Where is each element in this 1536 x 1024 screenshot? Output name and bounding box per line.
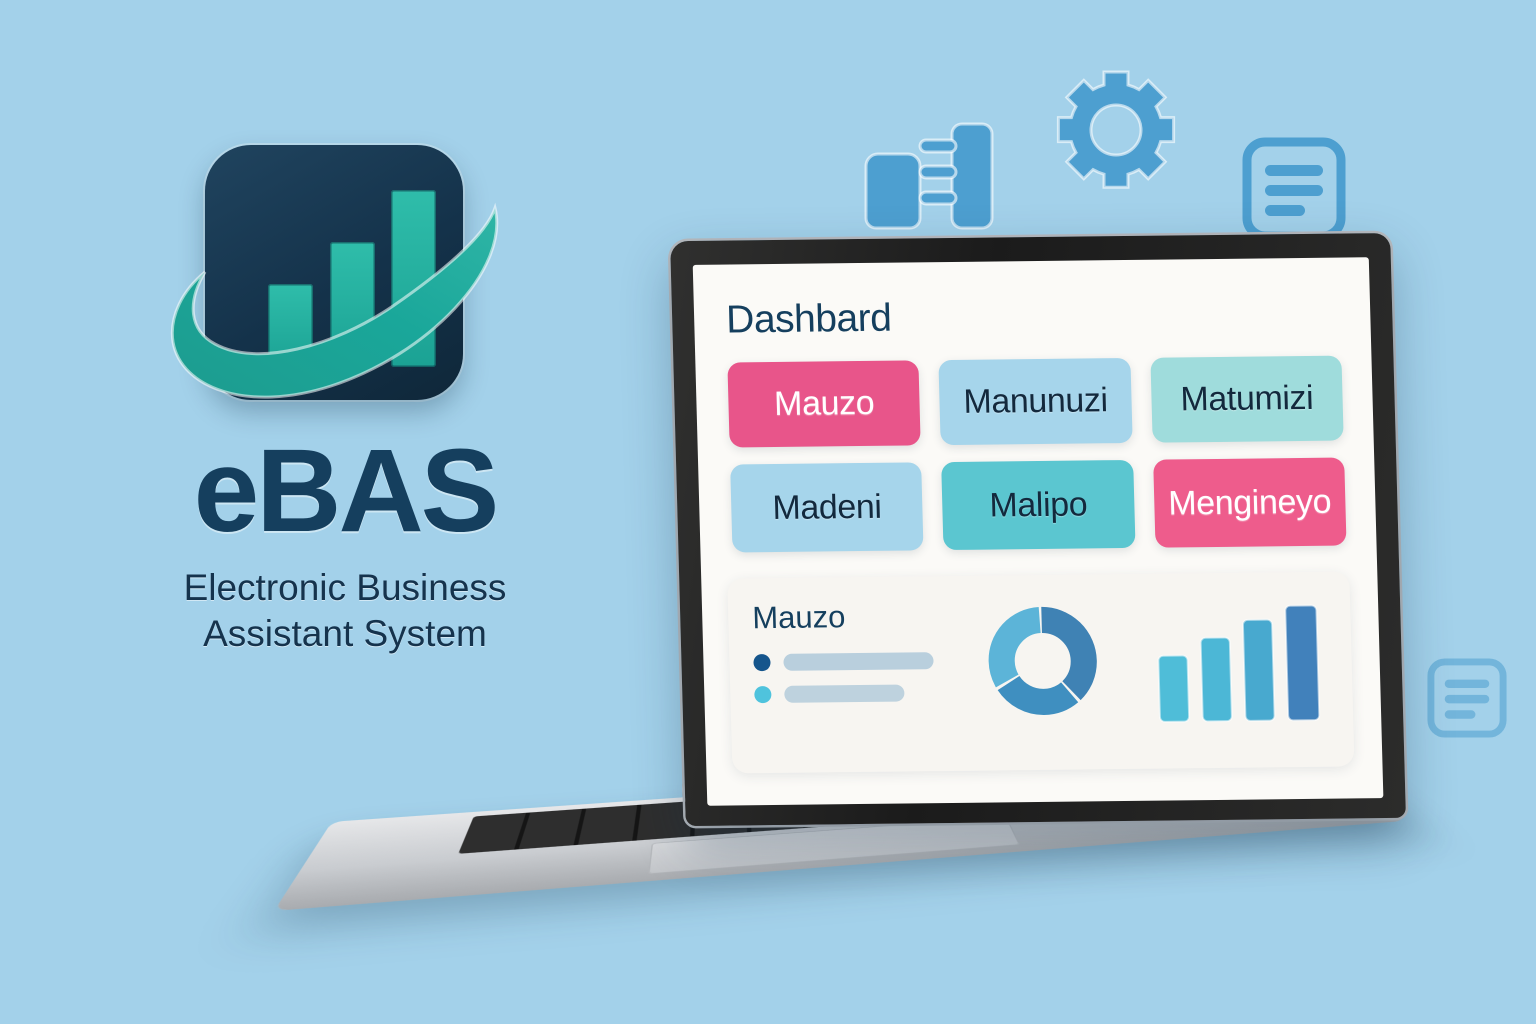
tile-madeni[interactable]: Madeni — [730, 462, 924, 552]
bar-1 — [1158, 655, 1189, 721]
page-title: Dashbard — [726, 292, 1341, 343]
bar-4 — [1285, 605, 1319, 720]
legend-bar-secondary — [784, 685, 904, 703]
bar-3 — [1243, 620, 1275, 721]
legend-item — [754, 684, 963, 703]
mauzo-bar-chart — [1151, 596, 1329, 728]
tile-mauzo[interactable]: Mauzo — [727, 360, 921, 447]
tile-mengineyo[interactable]: Mengineyo — [1153, 458, 1347, 548]
legend-item — [753, 652, 962, 671]
legend-dot-secondary — [754, 686, 771, 703]
mauzo-summary-panel: Mauzo — [727, 571, 1354, 773]
laptop-screen: Dashbard Mauzo Manunuzi Matumizi Madeni … — [693, 257, 1384, 805]
panel-title: Mauzo — [752, 598, 962, 636]
laptop-mockup: Dashbard Mauzo Manunuzi Matumizi Madeni … — [360, 225, 1450, 965]
legend-bar-primary — [783, 652, 933, 671]
legend-dot-primary — [753, 654, 770, 671]
panel-legend-area: Mauzo — [752, 594, 964, 718]
tile-malipo[interactable]: Malipo — [941, 460, 1135, 550]
tile-matumizi[interactable]: Matumizi — [1150, 356, 1344, 443]
laptop-lid: Dashbard Mauzo Manunuzi Matumizi Madeni … — [670, 233, 1406, 826]
tile-manunuzi[interactable]: Manunuzi — [939, 358, 1133, 445]
mauzo-donut-chart — [979, 596, 1107, 725]
hero-illustration: eBAS Electronic Business Assistant Syste… — [0, 0, 1536, 1024]
dashboard-tile-grid: Mauzo Manunuzi Matumizi Madeni Malipo Me… — [727, 356, 1346, 553]
report-chart-icon[interactable] — [858, 118, 998, 230]
bar-2 — [1201, 638, 1232, 722]
gear-icon[interactable] — [1052, 66, 1180, 194]
